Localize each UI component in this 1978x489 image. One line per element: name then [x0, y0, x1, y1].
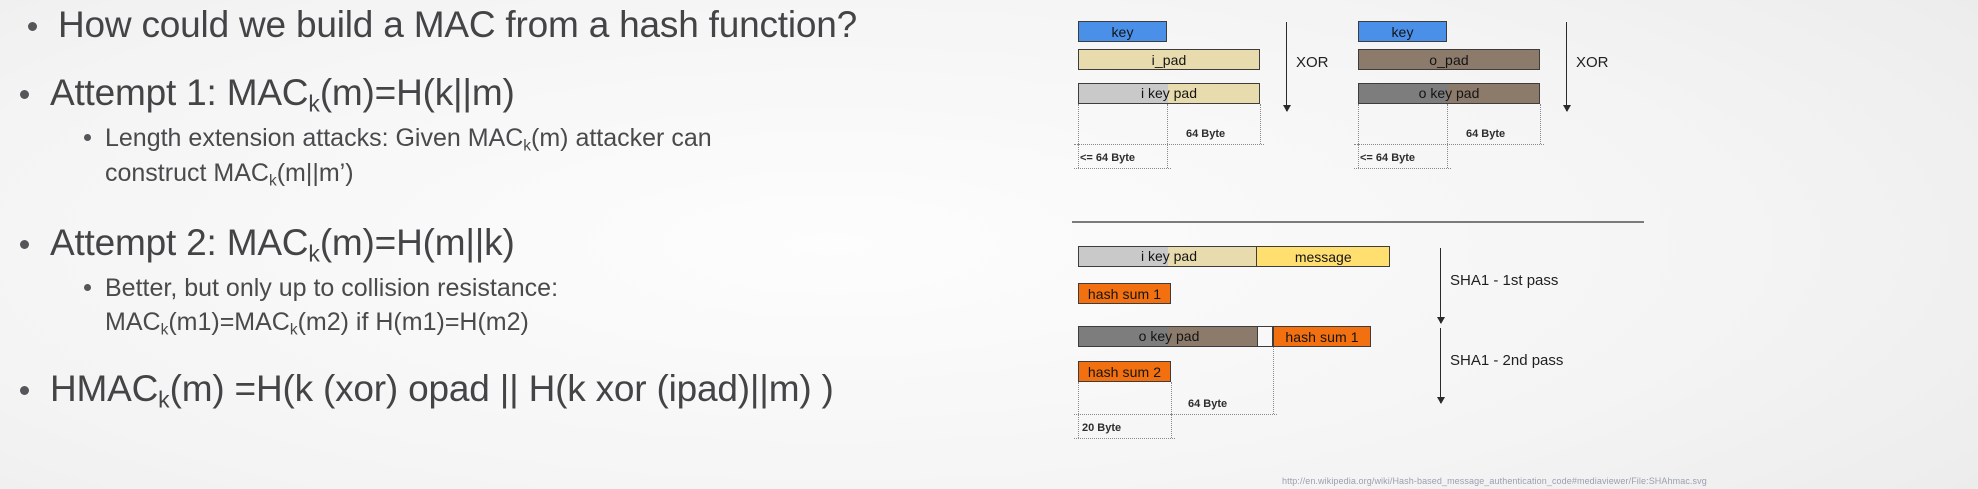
ipad-keydim-tick-right — [1167, 144, 1168, 168]
bullet-dot-icon — [84, 284, 91, 291]
section-divider — [1072, 221, 1644, 223]
ipad-xor-label: XOR — [1296, 54, 1329, 71]
pass2-dim-line-20 — [1074, 438, 1175, 439]
opad-combined-label: o key pad — [1359, 84, 1539, 103]
pass2-dim20-tick-left — [1078, 414, 1079, 438]
hmac-diagram: key i_pad i key pad 64 Byte <= 64 Byte X… — [1060, 0, 1978, 489]
bullet-list: How could we build a MAC from a hash fun… — [0, 0, 1060, 489]
bullet-item-5: Better, but only up to collision resista… — [84, 272, 884, 341]
ipad-dim-tick-left — [1078, 104, 1079, 144]
bullet-text: How could we build a MAC from a hash fun… — [58, 4, 857, 45]
opad-dim-line-64 — [1354, 144, 1544, 145]
ipad-dim-line-64 — [1074, 144, 1264, 145]
pass1-message-seg: message — [1257, 247, 1389, 266]
bullet-text: Better, but only up to collision resista… — [105, 272, 805, 341]
bullet-item-2: Attempt 1: MACk(m)=H(k||m) — [20, 72, 515, 117]
bullet-dot-icon — [84, 134, 91, 141]
bullet-item-4: Attempt 2: MACk(m)=H(m||k) — [20, 222, 515, 267]
opad-dim-label-64: 64 Byte — [1466, 128, 1505, 140]
opad-combined-box: o key pad — [1358, 83, 1540, 104]
pass1-arrow-icon — [1440, 248, 1441, 323]
ipad-dim-label-64: 64 Byte — [1186, 128, 1225, 140]
pass1-step-label: SHA1 - 1st pass — [1450, 272, 1558, 289]
bullet-text: Attempt 1: MACk(m)=H(k||m) — [50, 72, 515, 117]
opad-pad-box: o_pad — [1358, 49, 1540, 70]
bullet-text: Attempt 2: MACk(m)=H(m||k) — [50, 222, 515, 267]
ipad-dim-line-key — [1074, 168, 1171, 169]
pass2-result-box: hash sum 2 — [1078, 361, 1171, 382]
bullet-dot-icon — [20, 240, 29, 249]
slide-canvas: How could we build a MAC from a hash fun… — [0, 0, 1978, 489]
bullet-dot-icon — [20, 386, 29, 395]
opad-dim-tick-mid — [1447, 104, 1448, 144]
pass2-step-label: SHA1 - 2nd pass — [1450, 352, 1563, 369]
bullet-dot-icon — [20, 90, 29, 99]
pass2-dim-tick-left — [1078, 382, 1079, 414]
opad-dim-tick-right — [1540, 104, 1541, 144]
ipad-dim-tick-mid — [1167, 104, 1168, 144]
pass2-dim20-tick-right — [1171, 414, 1172, 438]
pass2-dim-label-64: 64 Byte — [1188, 398, 1227, 410]
pass2-okeypad-label: o key pad — [1079, 327, 1259, 346]
ipad-combined-box: i key pad — [1078, 83, 1260, 104]
bullet-item-1: How could we build a MAC from a hash fun… — [28, 4, 857, 45]
pass1-input-box: message i key pad — [1078, 246, 1390, 267]
pass2-dim-tick-right — [1273, 347, 1274, 414]
pass1-ikeypad-label: i key pad — [1079, 247, 1259, 266]
ipad-pad-box: i_pad — [1078, 49, 1260, 70]
ipad-dim-tick-right — [1260, 104, 1261, 144]
pass1-result-box: hash sum 1 — [1078, 283, 1171, 304]
pass2-input-box: o key pad — [1078, 326, 1273, 347]
opad-xor-arrow-icon — [1566, 22, 1567, 111]
bullet-item-6: HMACk(m) =H(k (xor) opad || H(k xor (ipa… — [20, 368, 834, 413]
pass2-dim-label-20: 20 Byte — [1082, 422, 1121, 434]
opad-xor-label: XOR — [1576, 54, 1609, 71]
opad-keydim-tick-left — [1358, 144, 1359, 168]
opad-keydim-tick-right — [1447, 144, 1448, 168]
ipad-xor-arrow-icon — [1286, 22, 1287, 111]
ipad-key-box: key — [1078, 21, 1167, 42]
pass2-arrow-icon — [1440, 328, 1441, 403]
pass2-input-hash-box: hash sum 1 — [1273, 326, 1371, 347]
bullet-dot-icon — [28, 22, 37, 31]
opad-dim-label-key: <= 64 Byte — [1360, 152, 1415, 164]
bullet-text: HMACk(m) =H(k (xor) opad || H(k xor (ipa… — [50, 368, 834, 413]
pass2-dim-line-64 — [1074, 414, 1277, 415]
source-credit: http://en.wikipedia.org/wiki/Hash-based_… — [1282, 476, 1707, 486]
opad-key-box: key — [1358, 21, 1447, 42]
ipad-dim-label-key: <= 64 Byte — [1080, 152, 1135, 164]
opad-dim-tick-left — [1358, 104, 1359, 144]
bullet-text: Length extension attacks: Given MACk(m) … — [105, 122, 805, 192]
opad-dim-line-key — [1354, 168, 1451, 169]
pass2-dim-tick-mid — [1171, 382, 1172, 414]
bullet-item-3: Length extension attacks: Given MACk(m) … — [84, 122, 874, 192]
ipad-keydim-tick-left — [1078, 144, 1079, 168]
ipad-combined-label: i key pad — [1079, 84, 1259, 103]
